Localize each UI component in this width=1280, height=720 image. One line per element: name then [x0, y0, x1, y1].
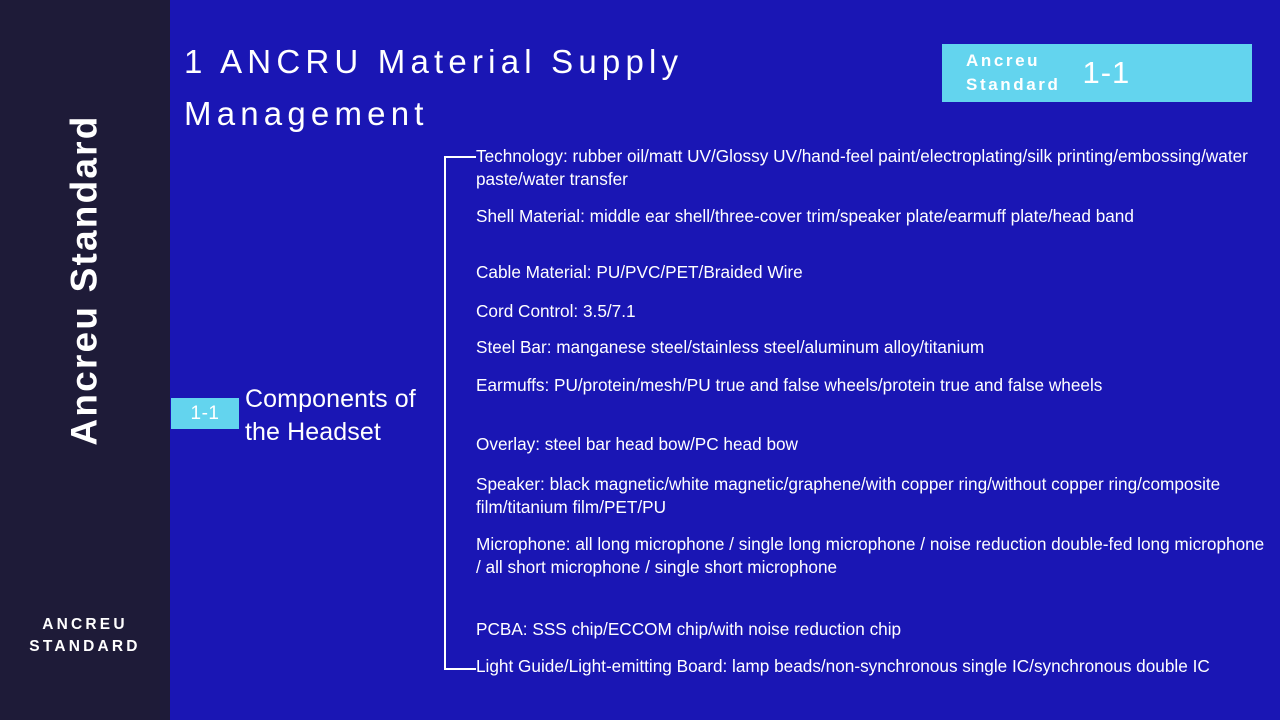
spec-list-item: Overlay: steel bar head bow/PC head bow [476, 433, 1266, 456]
spec-list-item: Technology: rubber oil/matt UV/Glossy UV… [476, 145, 1266, 190]
spec-list-item: Steel Bar: manganese steel/stainless ste… [476, 336, 1266, 359]
corner-standard-badge: Ancreu Standard 1-1 [942, 44, 1252, 102]
bracket-icon [443, 156, 476, 670]
corner-badge-code: 1-1 [1082, 55, 1130, 91]
spec-list-item: Cable Material: PU/PVC/PET/Braided Wire [476, 261, 1266, 284]
spec-list-item: Earmuffs: PU/protein/mesh/PU true and fa… [476, 374, 1266, 397]
sidebar-footer-brand: ANCREU STANDARD [0, 614, 170, 658]
spec-list-item: Cord Control: 3.5/7.1 [476, 300, 1266, 323]
spec-list-item: Light Guide/Light-emitting Board: lamp b… [476, 655, 1266, 678]
slide-canvas: Ancreu Standard ANCREU STANDARD 1 ANCRU … [0, 0, 1280, 720]
section-title: Components of the Headset [245, 383, 445, 449]
slide-title: 1 ANCRU Material Supply Management [184, 36, 924, 140]
spec-list-item: PCBA: SSS chip/ECCOM chip/with noise red… [476, 618, 1266, 641]
sidebar-vertical-brand: Ancreu Standard [0, 0, 170, 560]
spec-list-item: Microphone: all long microphone / single… [476, 533, 1266, 578]
sidebar-footer-line-2: STANDARD [0, 636, 170, 658]
left-sidebar: Ancreu Standard ANCREU STANDARD [0, 0, 170, 720]
sidebar-vertical-brand-text: Ancreu Standard [64, 114, 106, 445]
spec-list-item: Shell Material: middle ear shell/three-c… [476, 205, 1266, 228]
sidebar-footer-line-1: ANCREU [0, 614, 170, 636]
spec-list-item: Speaker: black magnetic/white magnetic/g… [476, 473, 1266, 518]
corner-badge-label: Ancreu Standard [966, 49, 1060, 97]
section-number-chip: 1-1 [171, 398, 239, 429]
